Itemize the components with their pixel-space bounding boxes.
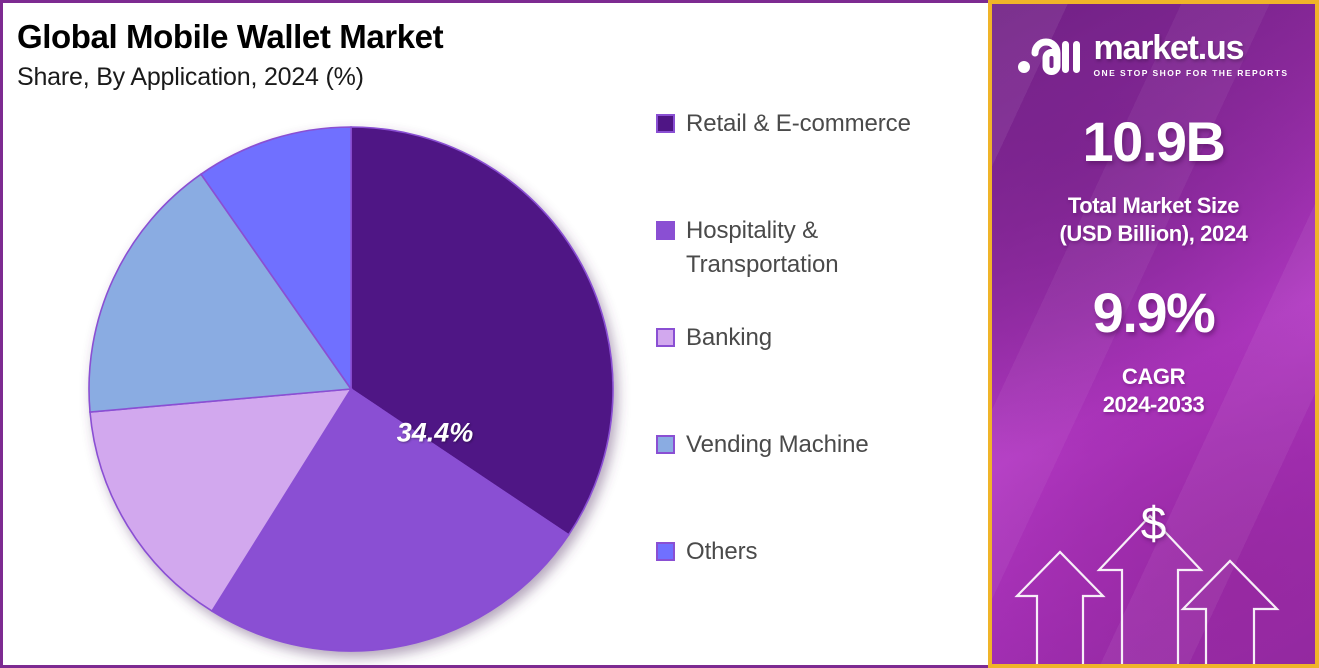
legend-item[interactable]: Others bbox=[656, 535, 976, 642]
market-size-caption-line1: Total Market Size bbox=[1060, 192, 1248, 220]
chart-legend: Retail & E-commerceHospitality & Transpo… bbox=[656, 107, 976, 642]
brand-text: market.us ONE STOP SHOP FOR THE REPORTS bbox=[1093, 32, 1288, 78]
pie-slice-group bbox=[89, 127, 613, 651]
market-size-value: 10.9B bbox=[1083, 114, 1225, 170]
brand-wordmark: market.us bbox=[1093, 32, 1288, 64]
brand-logo[interactable]: market.us ONE STOP SHOP FOR THE REPORTS bbox=[1018, 32, 1288, 78]
legend-item-label: Banking bbox=[686, 321, 772, 355]
market-size-caption: Total Market Size (USD Billion), 2024 bbox=[1060, 192, 1248, 247]
legend-swatch-icon bbox=[656, 542, 675, 561]
pie-chart: 34.4% bbox=[87, 125, 615, 653]
legend-swatch-icon bbox=[656, 221, 675, 240]
legend-item[interactable]: Retail & E-commerce bbox=[656, 107, 976, 214]
chart-panel: Global Mobile Wallet Market Share, By Ap… bbox=[0, 0, 988, 668]
legend-item-label: Vending Machine bbox=[686, 428, 869, 462]
pie-chart-svg bbox=[87, 125, 615, 653]
chart-header: Global Mobile Wallet Market Share, By Ap… bbox=[17, 19, 443, 92]
infographic-root: Global Mobile Wallet Market Share, By Ap… bbox=[0, 0, 1319, 668]
cagr-caption-line1: CAGR bbox=[1103, 363, 1205, 391]
page-title: Global Mobile Wallet Market bbox=[17, 19, 443, 55]
brand-tagline: ONE STOP SHOP FOR THE REPORTS bbox=[1093, 68, 1288, 78]
legend-item-label: Others bbox=[686, 535, 757, 569]
market-us-logo-icon bbox=[1018, 33, 1080, 77]
legend-item[interactable]: Vending Machine bbox=[656, 428, 976, 535]
legend-item-label: Retail & E-commerce bbox=[686, 107, 911, 141]
legend-swatch-icon bbox=[656, 328, 675, 347]
legend-swatch-icon bbox=[656, 435, 675, 454]
legend-item[interactable]: Banking bbox=[656, 321, 976, 428]
legend-item[interactable]: Hospitality & Transportation bbox=[656, 214, 976, 321]
stats-content: market.us ONE STOP SHOP FOR THE REPORTS … bbox=[992, 4, 1315, 664]
market-size-caption-line2: (USD Billion), 2024 bbox=[1060, 220, 1248, 248]
stats-panel: $ market.us ONE STOP SHOP FOR THE REPORT… bbox=[988, 0, 1319, 668]
cagr-value: 9.9% bbox=[1093, 285, 1215, 341]
page-subtitle: Share, By Application, 2024 (%) bbox=[17, 63, 443, 92]
legend-swatch-icon bbox=[656, 114, 675, 133]
cagr-caption-line2: 2024-2033 bbox=[1103, 391, 1205, 419]
legend-item-label: Hospitality & Transportation bbox=[686, 214, 976, 282]
cagr-caption: CAGR 2024-2033 bbox=[1103, 363, 1205, 418]
dollar-icon: $ bbox=[1141, 500, 1167, 546]
